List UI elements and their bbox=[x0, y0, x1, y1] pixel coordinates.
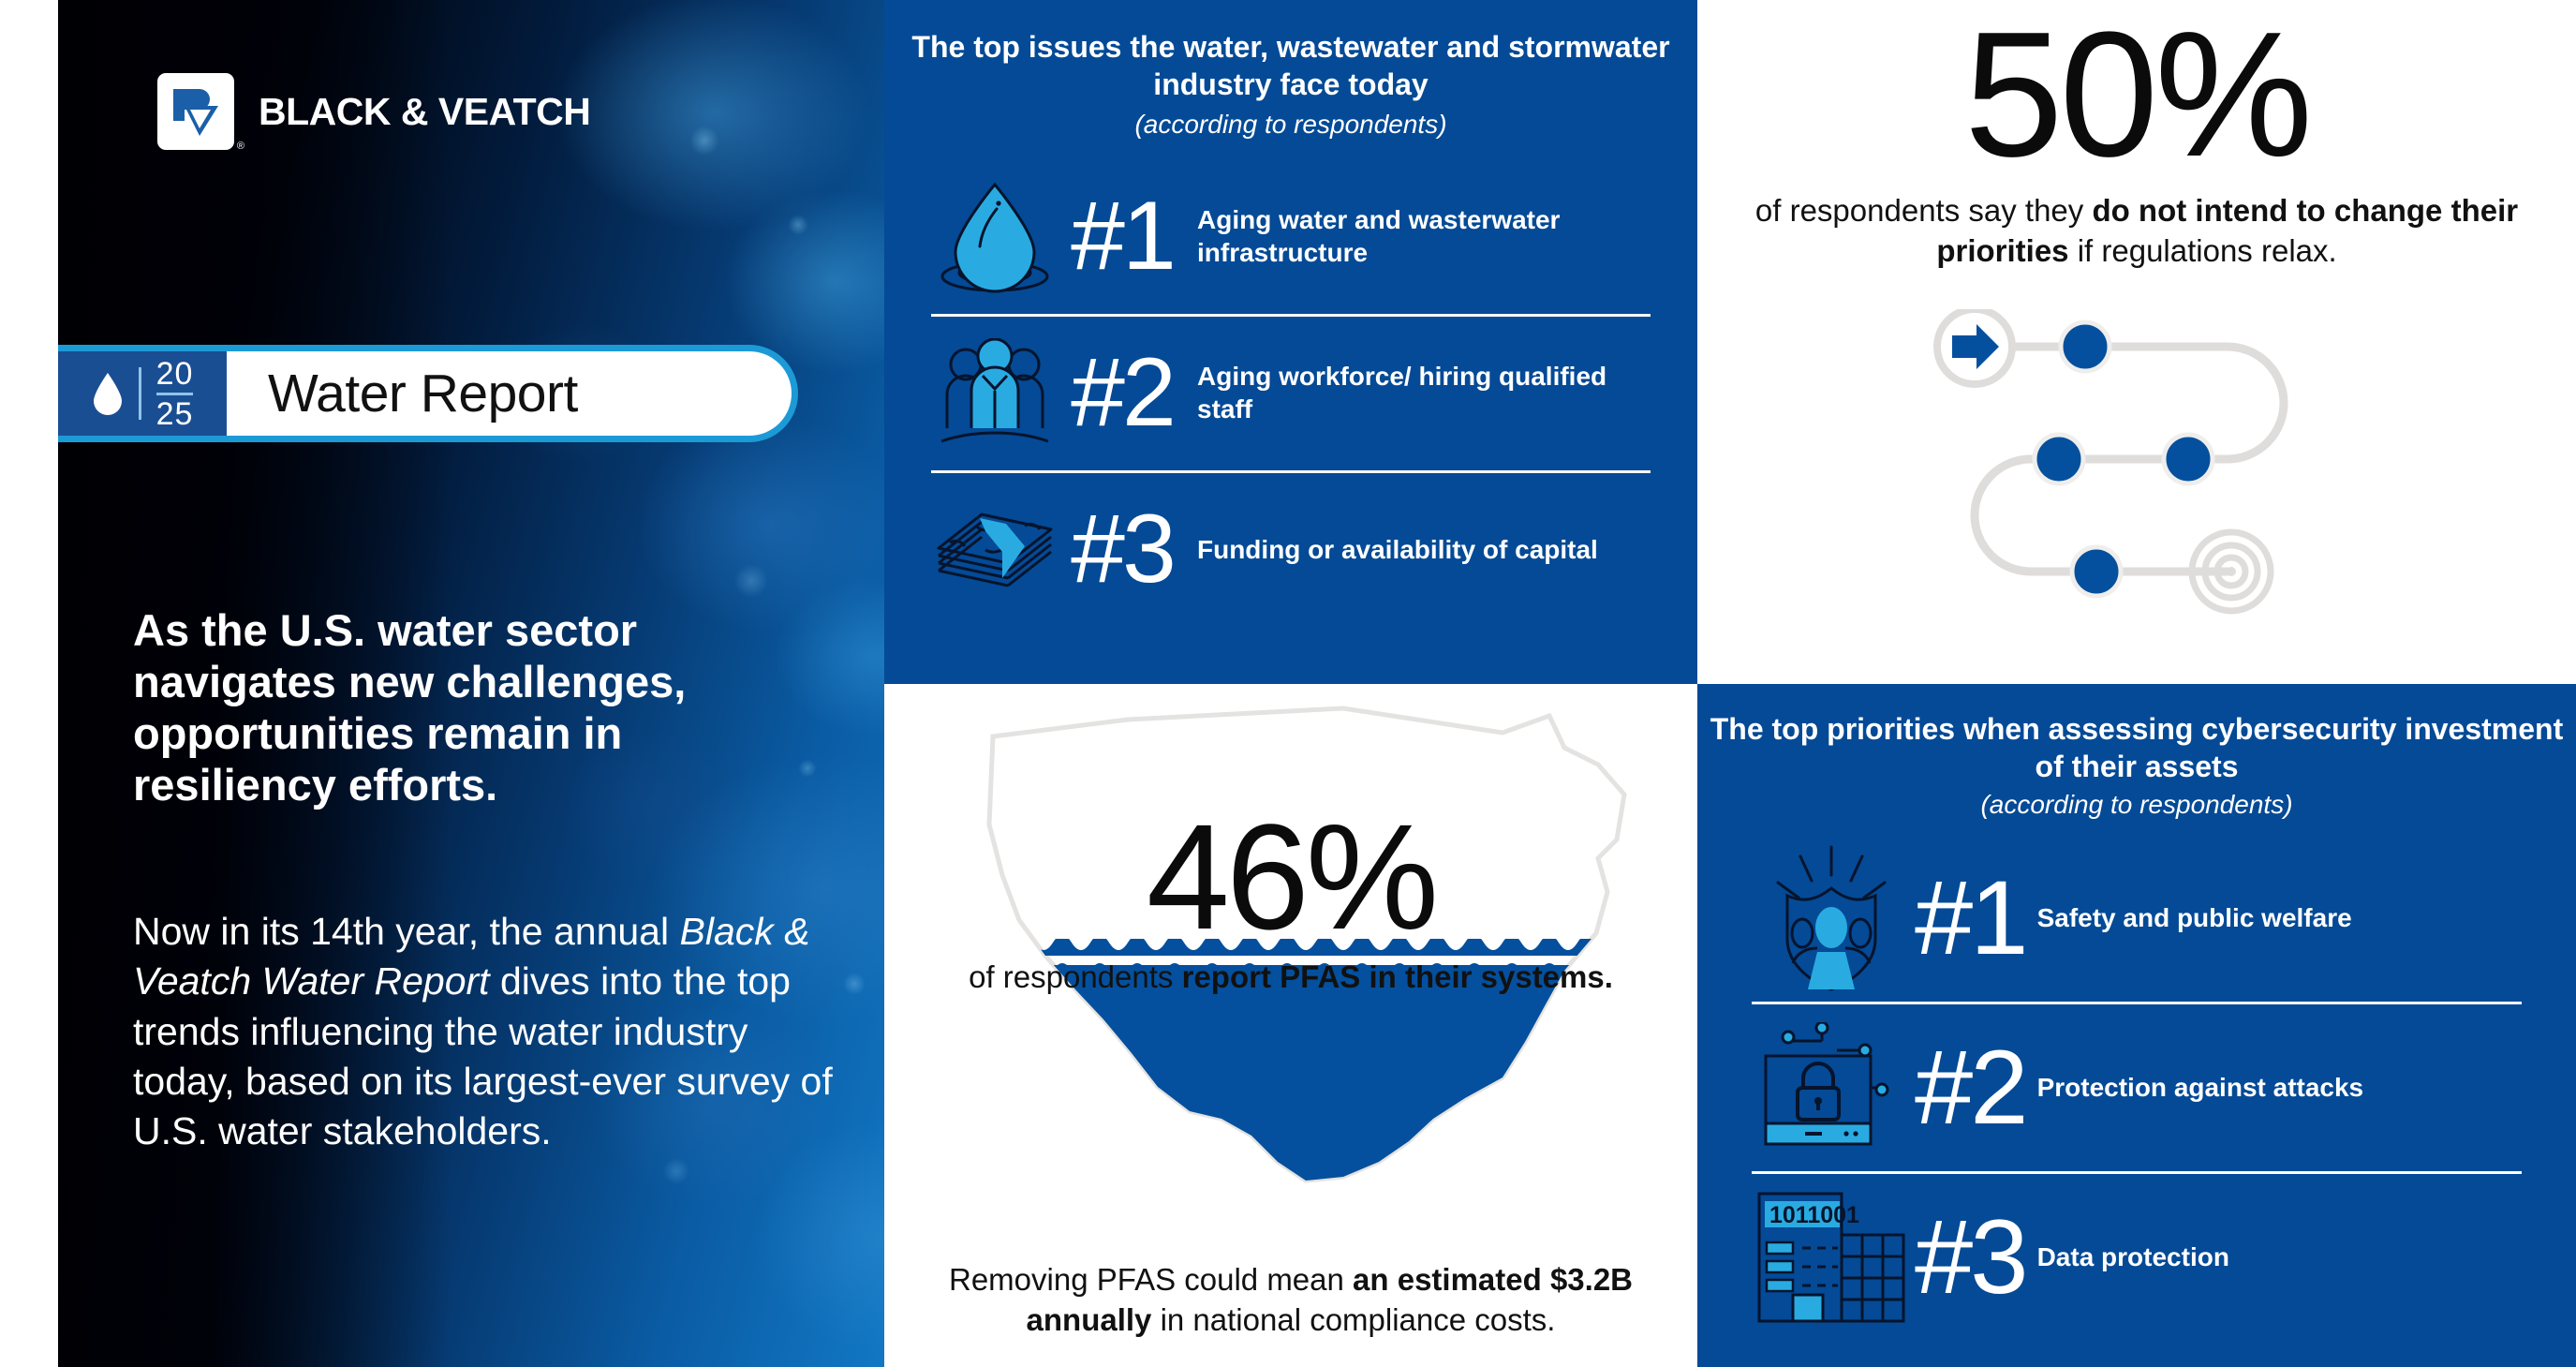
list-item: #1 Aging water and wasterwater infrastru… bbox=[929, 160, 1652, 314]
rank-label: Funding or availability of capital bbox=[1184, 534, 1598, 566]
rank-label: Aging water and wasterwater infrastructu… bbox=[1184, 204, 1652, 268]
top-issues-list: #1 Aging water and wasterwater infrastru… bbox=[884, 160, 1697, 627]
rank-number: #3 bbox=[1915, 1214, 2026, 1300]
infographic-canvas: ® BLACK & VEATCH 20 25 Wate bbox=[0, 0, 2576, 1367]
footnote-post: in national compliance costs. bbox=[1151, 1302, 1555, 1337]
winding-path-roadmap-icon bbox=[1918, 309, 2359, 642]
pfas-stat-overlay: 46% of respondents report PFAS in their … bbox=[884, 806, 1697, 997]
cybersecurity-title: The top priorities when assessing cybers… bbox=[1697, 684, 2576, 786]
regulations-stat-panel: 50% of respondents say they do not inten… bbox=[1697, 0, 2576, 684]
cybersecurity-subtitle: (according to respondents) bbox=[1697, 790, 2576, 820]
water-drop-icon bbox=[92, 372, 124, 415]
brand-wordmark: BLACK & VEATCH bbox=[259, 90, 590, 134]
regulations-stat-value: 50% bbox=[1697, 0, 2576, 184]
pfas-stat-caption: of respondents report PFAS in their syst… bbox=[884, 958, 1697, 997]
cybersecurity-list: #1 Safety and public welfare bbox=[1697, 835, 2576, 1341]
list-item: 1011001 bbox=[1752, 1174, 2522, 1341]
laptop-lock-icon bbox=[1752, 1022, 1911, 1153]
badge-title: Water Report bbox=[268, 363, 578, 424]
bv-monogram-icon: ® bbox=[157, 73, 234, 150]
hero-body-text: Now in its 14th year, the annual Black &… bbox=[133, 907, 845, 1156]
rank-label: Safety and public welfare bbox=[2030, 902, 2352, 934]
rank-number: #2 bbox=[1915, 1045, 2026, 1131]
people-group-icon bbox=[929, 338, 1060, 449]
brand-logo: ® BLACK & VEATCH bbox=[157, 73, 590, 150]
rank-number: #1 bbox=[1915, 875, 2026, 961]
pfas-map-panel: 46% of respondents report PFAS in their … bbox=[884, 684, 1697, 1367]
list-item: #2 Protection against attacks bbox=[1752, 1004, 2522, 1171]
top-issues-subtitle: (according to respondents) bbox=[884, 110, 1697, 140]
pfas-caption-pre: of respondents bbox=[969, 959, 1182, 994]
regulations-stat-text: of respondents say they do not intend to… bbox=[1697, 191, 2576, 272]
left-white-margin-strip bbox=[0, 0, 58, 1367]
shield-person-icon bbox=[1752, 843, 1911, 993]
badge-divider bbox=[139, 367, 141, 420]
badge-year-block: 20 25 bbox=[58, 351, 227, 436]
rank-label: Protection against attacks bbox=[2030, 1072, 2364, 1104]
left-hero-panel: ® BLACK & VEATCH 20 25 Wate bbox=[0, 0, 884, 1367]
rank-number: #1 bbox=[1066, 197, 1178, 276]
top-issues-panel: The top issues the water, wastewater and… bbox=[884, 0, 1697, 684]
rank-number: #3 bbox=[1066, 510, 1178, 589]
water-report-badge: 20 25 Water Report bbox=[58, 345, 798, 442]
list-item: #1 Safety and public welfare bbox=[1752, 835, 2522, 1002]
water-drop-ripple-icon bbox=[929, 179, 1060, 295]
rank-number: #2 bbox=[1066, 353, 1178, 433]
rank-label: Aging workforce/ hiring qualified staff bbox=[1184, 361, 1652, 424]
hero-headline: As the U.S. water sector navigates new c… bbox=[133, 605, 826, 811]
badge-year-bottom: 25 bbox=[156, 398, 194, 430]
stat-text-post: if regulations relax. bbox=[2069, 233, 2337, 268]
badge-title-pill: Water Report bbox=[227, 351, 792, 436]
binary-string: 1011001 bbox=[1769, 1202, 1859, 1228]
pfas-stat-value: 46% bbox=[884, 806, 1697, 948]
badge-year-top: 20 bbox=[156, 358, 194, 390]
registered-trademark-icon: ® bbox=[237, 141, 244, 152]
badge-fraction-bar bbox=[156, 393, 194, 395]
stat-text-pre: of respondents say they bbox=[1755, 193, 2093, 228]
money-stack-icon bbox=[929, 498, 1060, 602]
list-item: #2 Aging workforce/ hiring qualified sta… bbox=[929, 317, 1652, 470]
badge-year-fraction: 20 25 bbox=[156, 358, 194, 430]
data-binary-icon: 1011001 bbox=[1752, 1188, 1911, 1327]
footnote-pre: Removing PFAS could mean bbox=[949, 1262, 1353, 1297]
rank-label: Data protection bbox=[2030, 1241, 2229, 1273]
body-pre: Now in its 14th year, the annual bbox=[133, 910, 679, 953]
list-item: #3 Funding or availability of capital bbox=[929, 473, 1652, 627]
cybersecurity-panel: The top priorities when assessing cybers… bbox=[1697, 684, 2576, 1367]
pfas-footnote: Removing PFAS could mean an estimated $3… bbox=[884, 1259, 1697, 1341]
top-issues-title: The top issues the water, wastewater and… bbox=[884, 0, 1697, 104]
pfas-caption-bold: report PFAS in their systems. bbox=[1182, 959, 1613, 994]
